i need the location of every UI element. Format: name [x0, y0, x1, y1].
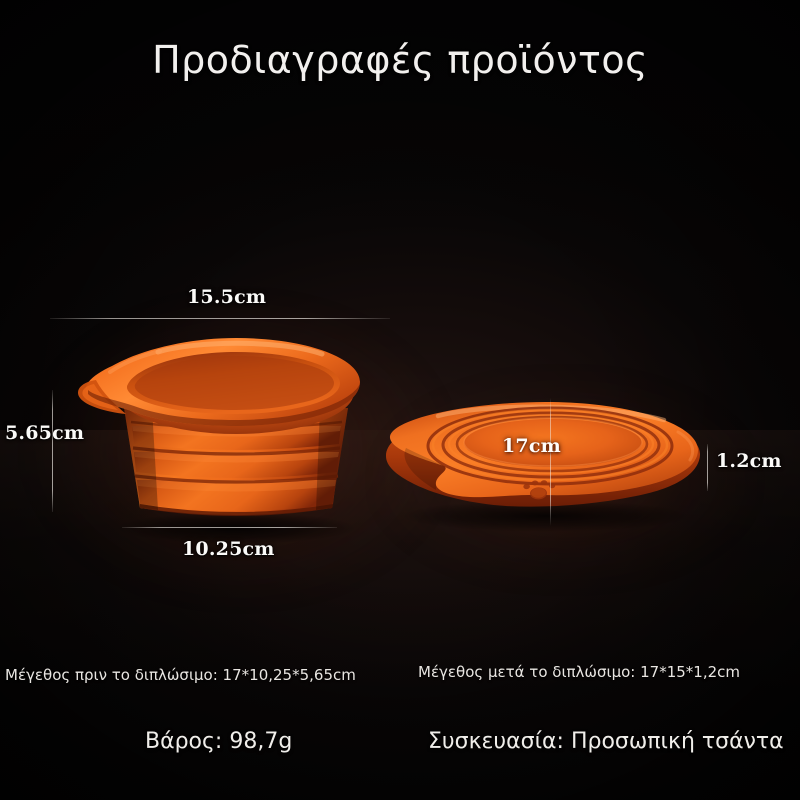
dimension-label-top-width: 15.5cm [187, 286, 266, 308]
guide-line-height [52, 390, 53, 512]
guide-line-top-width [50, 318, 390, 319]
page-title: Προδιαγραφές προϊόντος [0, 38, 800, 82]
footer-weight: Βάρος: 98,7g [145, 729, 292, 754]
guide-line-base-width [122, 527, 337, 528]
caption-size-after-folding: Μέγεθος μετά το διπλώσιμο: 17*15*1,2cm [418, 663, 740, 681]
guide-line-collapsed-height [707, 444, 708, 491]
dimension-label-diameter: 17cm [502, 435, 561, 457]
footer-packaging: Συσκευασία: Προσωπική τσάντα [428, 729, 784, 754]
guide-line-diameter [550, 398, 551, 526]
expanded-bowl-rim [78, 338, 360, 426]
collapsible-pet-bowl-expanded [48, 330, 408, 540]
collapsible-pet-bowl-collapsed [378, 398, 708, 533]
caption-size-before-folding: Μέγεθος πριν το διπλώσιμο: 17*10,25*5,65… [5, 666, 356, 684]
dimension-label-collapsed-height: 1.2cm [716, 450, 782, 472]
dimension-label-height: 5.65cm [5, 422, 84, 444]
dimension-label-base-width: 10.25cm [182, 538, 275, 560]
product-specification-image: Προδιαγραφές προϊόντος [0, 0, 800, 800]
